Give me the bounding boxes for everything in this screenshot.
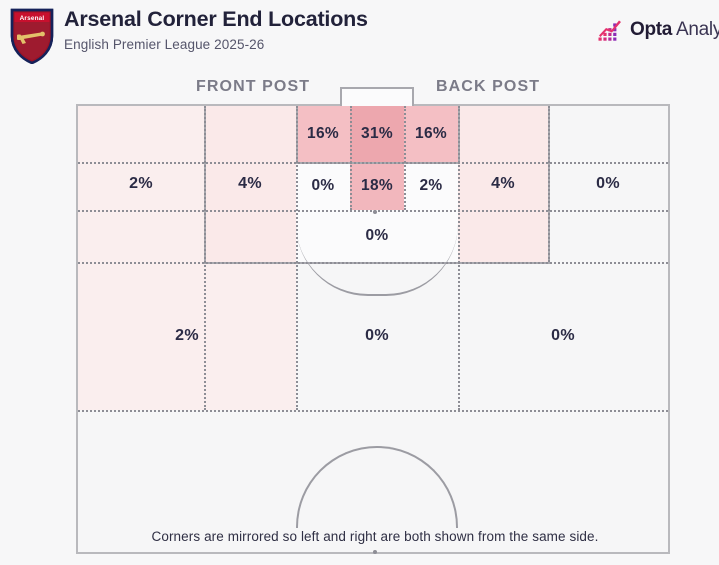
arsenal-crest-icon: Arsenal (8, 6, 56, 64)
opta-analyst-logo: Opta Analy (598, 17, 719, 43)
zone-value: 0% (596, 175, 620, 193)
zone-value: 0% (311, 177, 334, 195)
opta-brand-bold: Opta (630, 19, 672, 40)
divider-channel-right (458, 106, 460, 410)
zone-penalty-back: 2% (404, 162, 458, 210)
divider-wide-right (548, 106, 550, 262)
penalty-spot (373, 210, 377, 214)
zone-value: 2% (175, 327, 199, 345)
divider-wide-left (204, 106, 206, 410)
divider-channel-left (296, 106, 298, 410)
divider-goal-right (404, 106, 406, 210)
footnote: Corners are mirrored so left and right a… (78, 529, 672, 544)
zone-value: 2% (129, 175, 153, 193)
divider-six-yard-depth (78, 162, 668, 164)
opta-bars-icon (598, 19, 624, 41)
front-post-label: FRONT POST (196, 78, 310, 96)
opta-wordmark: Opta Analy (630, 19, 719, 41)
zone-box-left: 4% (204, 106, 296, 262)
pitch-diagram: 2% 4% 16% 31% 16% 0% 18% 2% 4% (76, 104, 670, 554)
zone-value: 18% (361, 177, 393, 195)
zone-penalty-central: 18% (350, 162, 404, 210)
zone-value: 0% (365, 327, 389, 345)
zone-wide-right-outer: 0% (548, 106, 668, 262)
center-spot (373, 550, 377, 554)
zone-box-right: 4% (458, 106, 548, 262)
corner-locations-infographic: Arsenal Arsenal Corner End Locations Eng… (0, 0, 719, 565)
zone-value: 4% (238, 175, 262, 193)
zone-value: 16% (415, 125, 447, 143)
divider-mid-band (78, 410, 668, 412)
title-block: Arsenal Corner End Locations English Pre… (64, 6, 368, 55)
zone-value: 16% (307, 125, 339, 143)
zone-penalty-front: 0% (296, 162, 350, 210)
page-subtitle: English Premier League 2025-26 (64, 35, 368, 55)
center-circle-arc (296, 446, 458, 528)
zone-six-yard-back: 16% (404, 106, 458, 162)
header: Arsenal Arsenal Corner End Locations Eng… (0, 0, 719, 76)
zone-value: 4% (491, 175, 515, 193)
zone-six-yard-front: 16% (296, 106, 350, 162)
divider-goal-left (350, 106, 352, 210)
zone-value: 2% (419, 177, 442, 195)
zone-mid-left: 2% (78, 262, 296, 410)
zone-six-yard-central: 31% (350, 106, 404, 162)
svg-text:Arsenal: Arsenal (20, 15, 45, 22)
zone-mid-right: 0% (458, 262, 668, 410)
zone-wide-left-outer: 2% (78, 106, 204, 262)
back-post-label: BACK POST (436, 78, 540, 96)
zone-value: 31% (361, 125, 393, 143)
opta-brand-light: Analy (672, 19, 719, 40)
page-title: Arsenal Corner End Locations (64, 6, 368, 32)
goal-mouth (340, 87, 414, 106)
zone-value: 0% (551, 327, 575, 345)
